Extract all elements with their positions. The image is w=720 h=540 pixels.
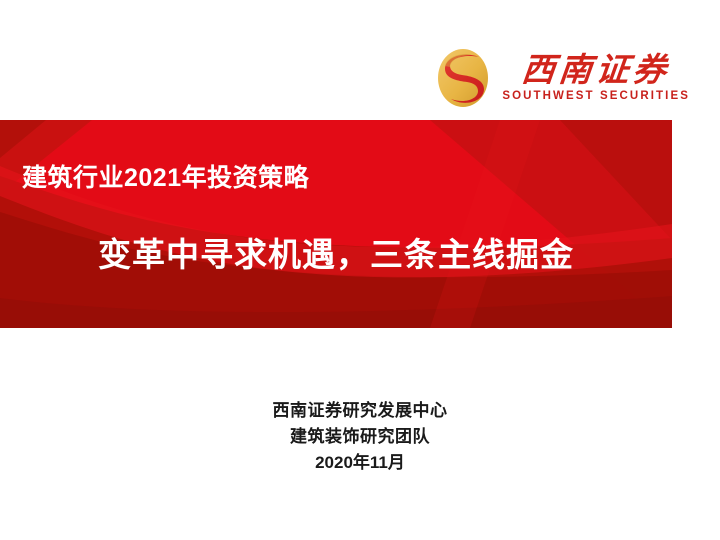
company-logo: 西南证券 SOUTHWEST SECURITIES (434, 48, 690, 108)
banner-kicker: 建筑行业2021年投资策略 (22, 158, 309, 194)
credit-line-date: 2020年11月 (0, 450, 720, 476)
logo-chinese-name: 西南证券 (520, 53, 671, 86)
southwest-securities-emblem-icon (434, 48, 492, 108)
logo-wordmark: 西南证券 SOUTHWEST SECURITIES (502, 53, 690, 103)
credit-line-institution: 西南证券研究发展中心 (0, 398, 720, 424)
logo-english-name: SOUTHWEST SECURITIES (502, 91, 690, 103)
cover-slide: 西南证券 SOUTHWEST SECURITIES 建筑行业2021年投资策略 (0, 0, 720, 540)
banner-text-group: 建筑行业2021年投资策略 变革中寻求机遇，三条主线掘金 (0, 120, 672, 328)
credits-block: 西南证券研究发展中心 建筑装饰研究团队 2020年11月 (0, 398, 720, 476)
credit-line-team: 建筑装饰研究团队 (0, 424, 720, 450)
title-banner: 建筑行业2021年投资策略 变革中寻求机遇，三条主线掘金 (0, 120, 672, 328)
banner-headline: 变革中寻求机遇，三条主线掘金 (0, 228, 672, 276)
